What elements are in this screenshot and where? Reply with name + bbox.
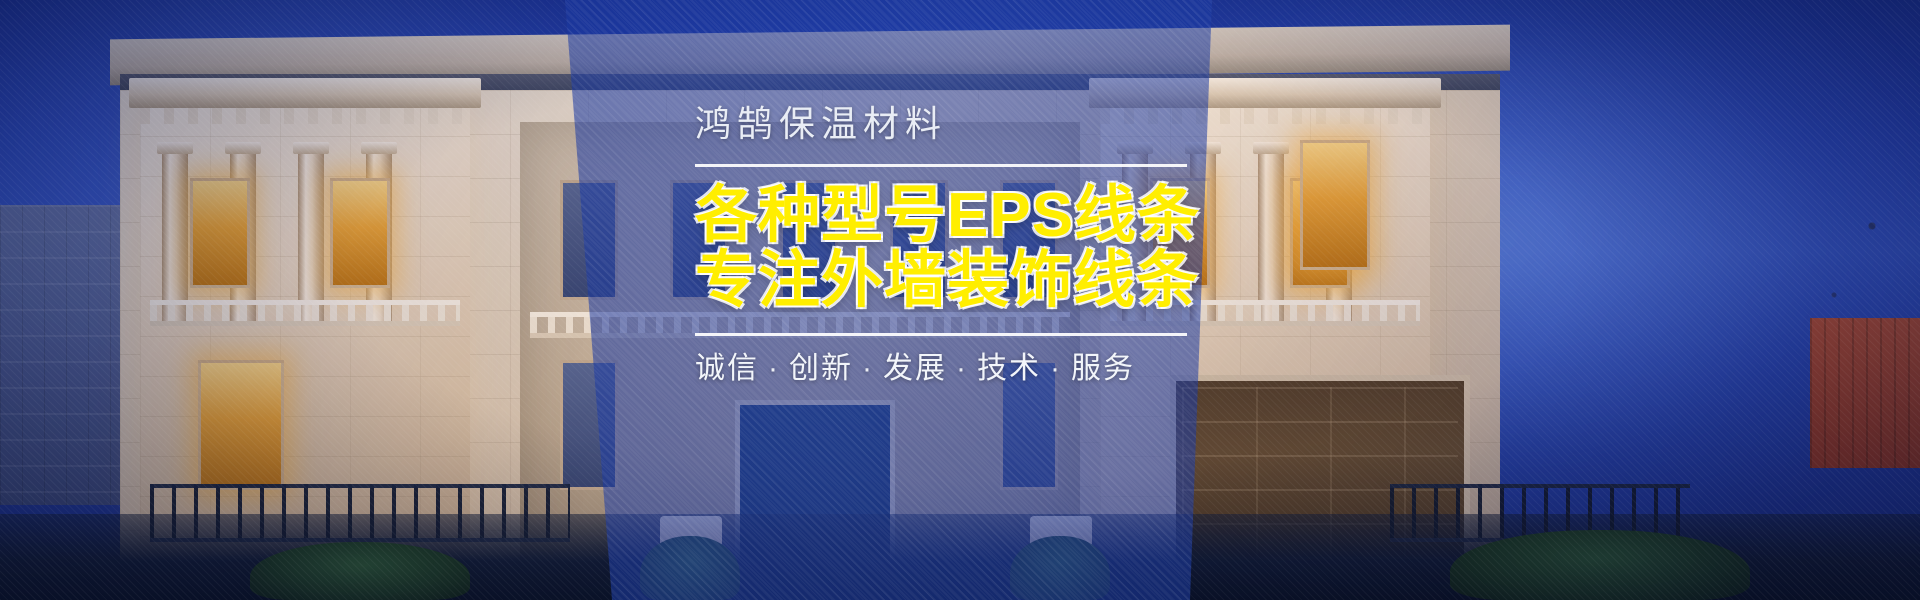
tagline-item: 技术: [977, 352, 1041, 385]
headline-line-2: 专注外墙装饰线条: [695, 248, 1215, 313]
headline-group: 各种型号EPS线条 专注外墙装饰线条: [695, 183, 1215, 313]
tagline-item: 创新: [789, 352, 853, 385]
promotional-banner: 鸿鹄保温材料 各种型号EPS线条 专注外墙装饰线条 诚信·创新·发展·技术·服务: [0, 0, 1920, 600]
tagline-item: 发展: [883, 352, 947, 385]
tagline: 诚信·创新·发展·技术·服务: [695, 354, 1215, 384]
brand-name: 鸿鹄保温材料: [695, 106, 1215, 142]
tagline-separator: ·: [862, 352, 874, 385]
divider-top: [695, 164, 1187, 167]
divider-bottom: [695, 333, 1187, 336]
divider-bottom-wrap: [695, 333, 1215, 336]
tagline-item: 服务: [1071, 352, 1135, 385]
tagline-separator: ·: [1050, 352, 1062, 385]
tagline-separator: ·: [956, 352, 968, 385]
banner-text-block: 鸿鹄保温材料 各种型号EPS线条 专注外墙装饰线条 诚信·创新·发展·技术·服务: [695, 106, 1215, 384]
tagline-item: 诚信: [695, 352, 759, 385]
headline-line-1: 各种型号EPS线条: [695, 183, 1215, 248]
tagline-separator: ·: [768, 352, 780, 385]
